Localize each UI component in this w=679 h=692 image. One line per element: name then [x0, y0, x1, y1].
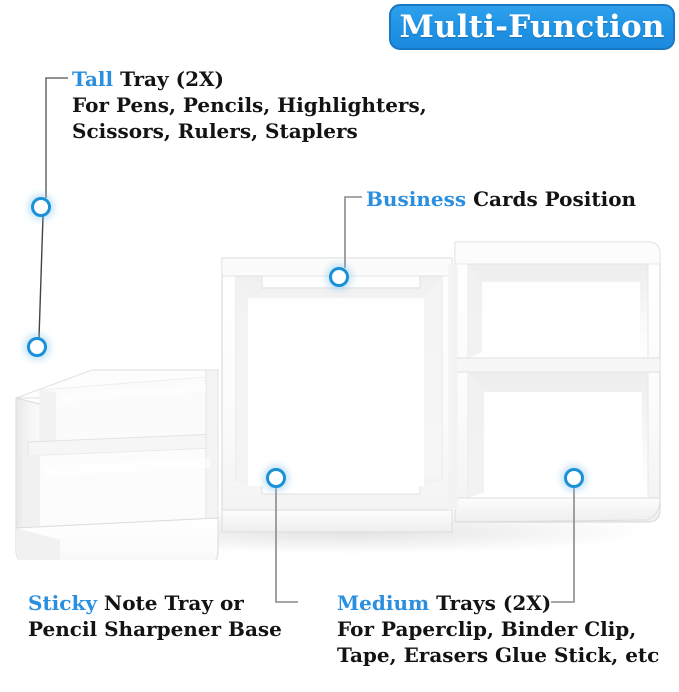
callout-sticky-note-rest: Note Tray or	[104, 591, 244, 615]
callout-medium-trays-line-1: Medium Trays (2X)	[337, 590, 659, 616]
callout-tall-tray-line-2: For Pens, Pencils, Highlighters,	[72, 92, 427, 118]
callout-tall-tray-line-1: Tall Tray (2X)	[72, 66, 427, 92]
callout-tall-tray: Tall Tray (2X) For Pens, Pencils, Highli…	[72, 66, 427, 144]
callout-medium-trays-highlight: Medium	[337, 591, 429, 615]
callout-medium-trays: Medium Trays (2X) For Paperclip, Binder …	[337, 590, 659, 668]
callout-tall-tray-line-3: Scissors, Rulers, Staplers	[72, 118, 427, 144]
marker-tall-upper-icon	[31, 197, 51, 217]
marker-business-icon	[329, 267, 349, 287]
callout-business-cards-highlight: Business	[366, 187, 466, 211]
callout-sticky-note-line-1: Sticky Note Tray or	[28, 590, 282, 616]
banner-label: Multi-Function	[399, 12, 664, 43]
callout-sticky-note-line-2: Pencil Sharpener Base	[28, 616, 282, 642]
callout-sticky-note: Sticky Note Tray or Pencil Sharpener Bas…	[28, 590, 282, 642]
marker-tall-lower-icon	[27, 337, 47, 357]
product-image	[0, 180, 679, 560]
center-tray-group	[222, 258, 452, 532]
callout-business-cards: Business Cards Position	[366, 186, 636, 212]
marker-medium-icon	[564, 468, 584, 488]
medium-trays-group	[448, 242, 660, 522]
product-infographic: Multi-Function Tall Tray (2X) For Pens, …	[0, 0, 679, 692]
multi-function-banner: Multi-Function	[389, 4, 675, 50]
marker-sticky-icon	[266, 468, 286, 488]
callout-medium-trays-line-2: For Paperclip, Binder Clip,	[337, 616, 659, 642]
callout-tall-tray-highlight: Tall	[72, 67, 113, 91]
callout-medium-trays-line-3: Tape, Erasers Glue Stick, etc	[337, 642, 659, 668]
callout-sticky-note-highlight: Sticky	[28, 591, 97, 615]
desk-organizer-illustration	[0, 180, 679, 560]
callout-tall-tray-rest: Tray (2X)	[120, 67, 224, 91]
tall-tray-group	[16, 370, 218, 560]
callout-medium-trays-rest: Trays (2X)	[436, 591, 551, 615]
callout-business-cards-line-1: Business Cards Position	[366, 186, 636, 212]
callout-business-cards-rest: Cards Position	[473, 187, 636, 211]
